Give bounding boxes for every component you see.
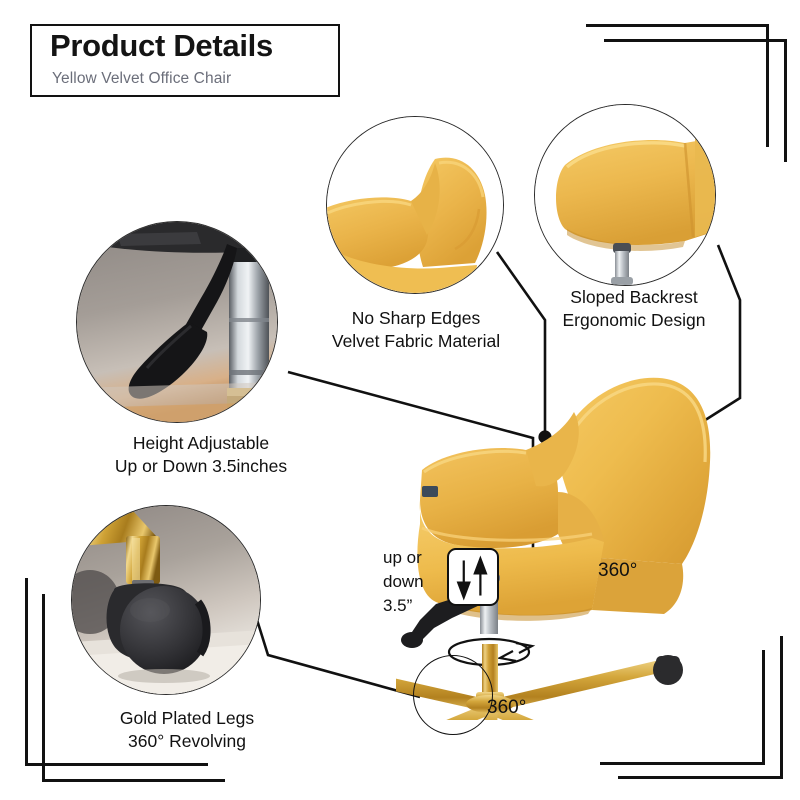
- caption-line-1: Sloped Backrest: [528, 286, 740, 309]
- caption-line-1: Height Adjustable: [82, 432, 320, 455]
- down-arrow-icon: [458, 560, 469, 597]
- caster-zoom-circle: [413, 655, 493, 735]
- inset-sloped-backrest: [534, 104, 716, 286]
- updown-line1: up or: [383, 546, 445, 570]
- infographic-canvas: Product Details Yellow Velvet Office Cha…: [0, 0, 800, 800]
- inset-no-sharp-edges: [326, 116, 504, 294]
- updown-line3: 3.5”: [383, 594, 445, 618]
- caption-line-2: Up or Down 3.5inches: [82, 455, 320, 478]
- swivel-seat-degree-label: 360°: [598, 560, 637, 582]
- title-box: Product Details Yellow Velvet Office Cha…: [30, 24, 340, 97]
- caption-line-1: Gold Plated Legs: [76, 707, 298, 730]
- caption-line-2: Velvet Fabric Material: [300, 330, 532, 353]
- updown-arrow-box: [447, 548, 499, 606]
- swivel-caster-degree-label: 360°: [487, 697, 526, 719]
- caption-gold-plated-legs: Gold Plated Legs 360° Revolving: [76, 707, 298, 753]
- up-arrow-icon: [475, 559, 486, 596]
- page-title: Product Details: [50, 30, 273, 63]
- updown-label: up or down 3.5”: [383, 546, 445, 618]
- fabric-label-tag: [422, 486, 438, 497]
- caption-height-adjustable: Height Adjustable Up or Down 3.5inches: [82, 432, 320, 478]
- caption-line-2: Ergonomic Design: [528, 309, 740, 332]
- inset-height-adjustable: [76, 221, 278, 423]
- caption-line-2: 360° Revolving: [76, 730, 298, 753]
- caption-no-sharp-edges: No Sharp Edges Velvet Fabric Material: [300, 307, 532, 353]
- caption-line-1: No Sharp Edges: [300, 307, 532, 330]
- page-subtitle: Yellow Velvet Office Chair: [52, 70, 231, 88]
- updown-line2: down: [383, 570, 445, 594]
- caption-sloped-backrest: Sloped Backrest Ergonomic Design: [528, 286, 740, 332]
- inset-gold-plated-legs: [71, 505, 261, 695]
- caster-wheel: [120, 586, 208, 674]
